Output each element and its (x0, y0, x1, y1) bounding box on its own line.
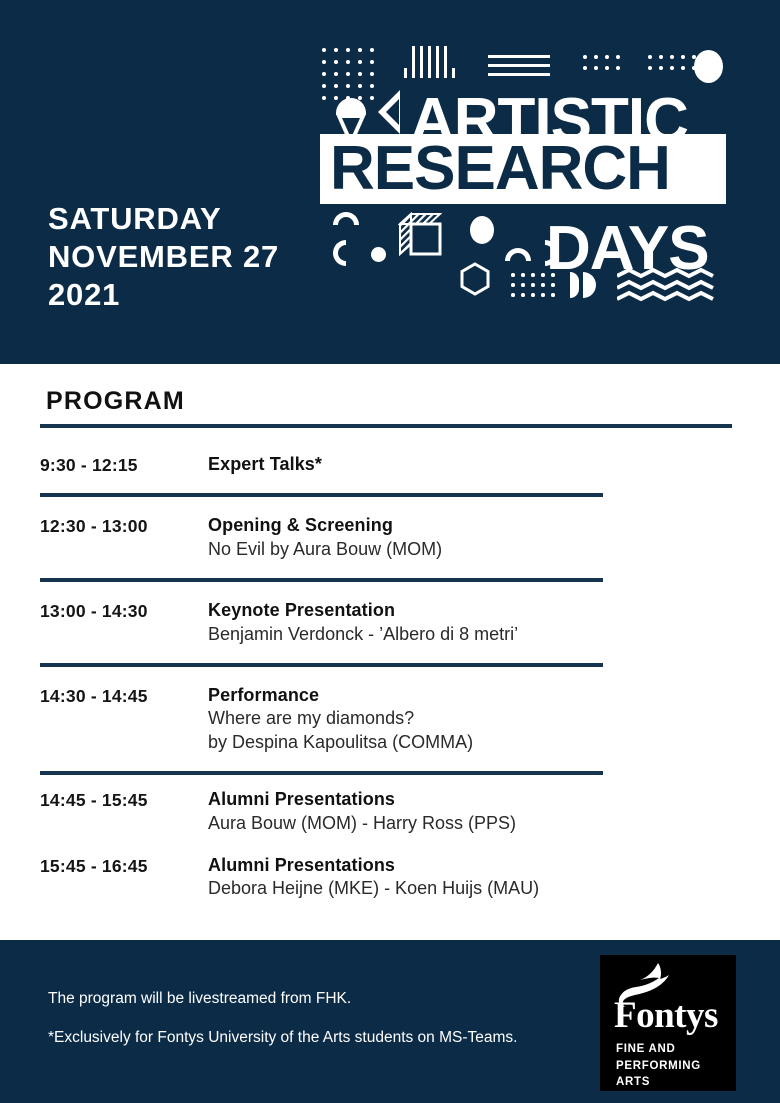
program-row-body: 9:30 - 12:15 Expert Talks* (40, 436, 740, 493)
program-row-time: 13:00 - 14:30 (40, 599, 208, 646)
date-line-month-day: NOVEMBER 27 (48, 238, 279, 276)
program-row-sub-line: Debora Heijne (MKE) - Koen Huijs (MAU) (208, 877, 740, 900)
program-row: 14:30 - 14:45 Performance Where are my d… (40, 667, 740, 775)
program-row-detail: Alumni Presentations Debora Heijne (MKE)… (208, 854, 740, 901)
program-row-heading: Keynote Presentation (208, 599, 740, 622)
fontys-logo: Fontys FINE AND PERFORMING ARTS (600, 955, 736, 1091)
program-row-detail: Alumni Presentations Aura Bouw (MOM) - H… (208, 788, 740, 835)
program-row-sub-line: Benjamin Verdonck - ’Albero di 8 metri’ (208, 623, 740, 646)
half-moons-icon (570, 272, 596, 298)
program-row-time: 15:45 - 16:45 (40, 854, 208, 901)
program-row-sub: Debora Heijne (MKE) - Koen Huijs (MAU) (208, 877, 740, 900)
program-row-sub: No Evil by Aura Bouw (MOM) (208, 538, 740, 561)
program-row-body: 14:30 - 14:45 Performance Where are my d… (40, 667, 740, 771)
program-row-sub-line: Aura Bouw (MOM) - Harry Ross (PPS) (208, 812, 740, 835)
program-row: 14:45 - 15:45 Alumni Presentations Aura … (40, 775, 740, 841)
program-row-body: 13:00 - 14:30 Keynote Presentation Benja… (40, 582, 740, 663)
program-rows: 9:30 - 12:15 Expert Talks* 12:30 - 13:00… (40, 436, 740, 907)
program-row: 12:30 - 13:00 Opening & Screening No Evi… (40, 497, 740, 582)
program-section: PROGRAM 9:30 - 12:15 Expert Talks* 12:30… (0, 364, 780, 940)
circle-icon (470, 216, 494, 244)
program-row-body: 12:30 - 13:00 Opening & Screening No Evi… (40, 497, 740, 578)
program-row-heading: Alumni Presentations (208, 788, 740, 811)
footer-notes: The program will be livestreamed from FH… (48, 990, 568, 1067)
program-row-detail: Keynote Presentation Benjamin Verdonck -… (208, 599, 740, 646)
logo-line-research: RESEARCH (320, 138, 670, 200)
event-date: SATURDAY NOVEMBER 27 2021 (48, 200, 279, 313)
date-line-year: 2021 (48, 276, 279, 314)
program-row-sub: Benjamin Verdonck - ’Albero di 8 metri’ (208, 623, 740, 646)
program-row-time: 14:30 - 14:45 (40, 684, 208, 754)
footer-note-exclusive: *Exclusively for Fontys University of th… (48, 1029, 568, 1048)
poster-header: ARTISTIC RESEARCH DAYS (0, 0, 780, 364)
fontys-wordmark: Fontys (614, 997, 718, 1034)
program-row-body: 14:45 - 15:45 Alumni Presentations Aura … (40, 775, 740, 841)
fontys-subtitle-line: FINE AND (616, 1041, 701, 1058)
program-row-body: 15:45 - 16:45 Alumni Presentations Debor… (40, 841, 740, 907)
program-row-time: 9:30 - 12:15 (40, 453, 208, 476)
date-line-weekday: SATURDAY (48, 200, 279, 238)
fontys-subtitle: FINE AND PERFORMING ARTS (616, 1041, 701, 1091)
program-row-sub-line: by Despina Kapoulitsa (COMMA) (208, 731, 740, 754)
wave-lines-icon (617, 268, 715, 302)
program-row-detail: Performance Where are my diamonds? by De… (208, 684, 740, 754)
dot-grid-bottom-icon (511, 273, 561, 303)
program-row-heading: Expert Talks* (208, 453, 740, 476)
program-row-sub: Where are my diamonds? by Despina Kapoul… (208, 707, 740, 754)
dot-icon (371, 247, 386, 262)
fontys-subtitle-line: ARTS (616, 1074, 701, 1091)
program-row-time: 14:45 - 15:45 (40, 788, 208, 835)
program-row-heading: Opening & Screening (208, 514, 740, 537)
hexagon-icon (459, 262, 491, 301)
poster: ARTISTIC RESEARCH DAYS (0, 0, 780, 1103)
program-row-sub-line: Where are my diamonds? (208, 707, 740, 730)
cube-icon (398, 212, 442, 263)
program-row: 13:00 - 14:30 Keynote Presentation Benja… (40, 582, 740, 667)
program-row-sub-line: No Evil by Aura Bouw (MOM) (208, 538, 740, 561)
program-row-heading: Performance (208, 684, 740, 707)
program-row: 15:45 - 16:45 Alumni Presentations Debor… (40, 841, 740, 907)
program-row-time: 12:30 - 13:00 (40, 514, 208, 561)
program-row-detail: Expert Talks* (208, 453, 740, 476)
program-row: 9:30 - 12:15 Expert Talks* (40, 436, 740, 497)
logo-research-box: RESEARCH (320, 134, 726, 204)
program-row-heading: Alumni Presentations (208, 854, 740, 877)
program-row-sub: Aura Bouw (MOM) - Harry Ross (PPS) (208, 812, 740, 835)
program-row-detail: Opening & Screening No Evil by Aura Bouw… (208, 514, 740, 561)
program-top-divider (40, 424, 732, 428)
footer-note-livestream: The program will be livestreamed from FH… (48, 990, 568, 1009)
fontys-subtitle-line: PERFORMING (616, 1058, 701, 1075)
program-title: PROGRAM (46, 387, 185, 416)
